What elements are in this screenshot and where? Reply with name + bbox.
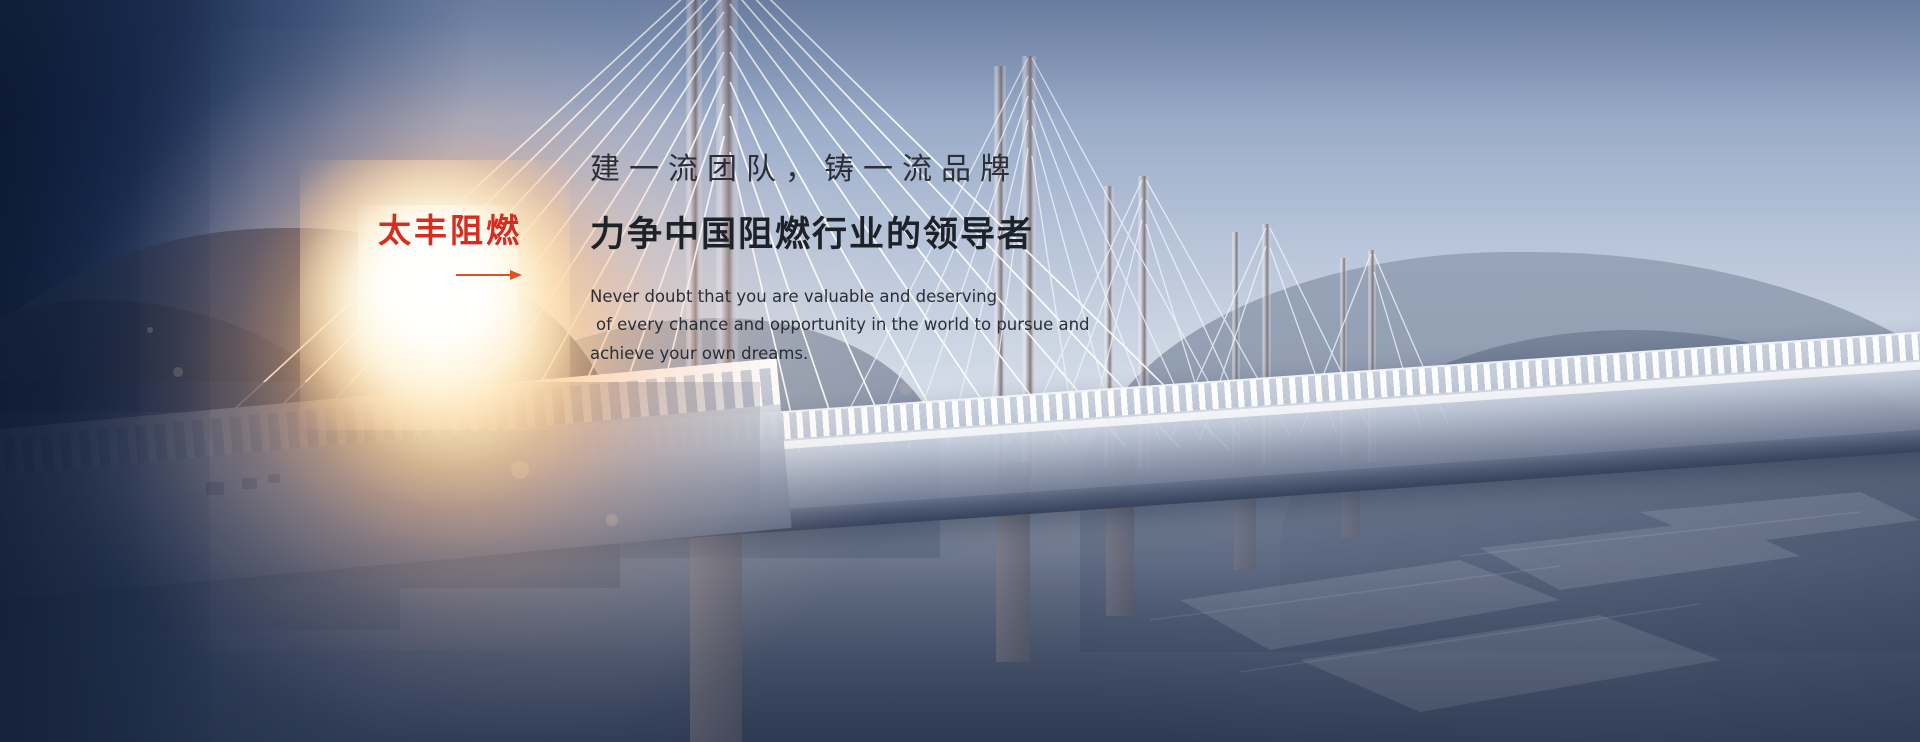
arrow-head <box>510 270 522 280</box>
subtext-line-2: of every chance and opportunity in the w… <box>590 311 1050 339</box>
banner-text-block: 建一流团队，铸一流品牌 力争中国阻燃行业的领导者 Never doubt tha… <box>590 152 1060 368</box>
headline-secondary: 力争中国阻燃行业的领导者 <box>590 214 1060 256</box>
subtext-line-1: Never doubt that you are valuable and de… <box>590 283 1050 311</box>
brand-logo-text: 太丰阻燃 <box>378 214 538 247</box>
arrow-shaft <box>456 274 512 276</box>
arrow-right-icon <box>456 269 522 281</box>
subtext-line-3: achieve your own dreams. <box>590 340 1050 368</box>
headline-primary: 建一流团队，铸一流品牌 <box>590 152 1060 188</box>
brand-logo[interactable]: 太丰阻燃 <box>378 214 538 281</box>
banner-subtext: Never doubt that you are valuable and de… <box>590 283 1050 368</box>
hero-banner: 太丰阻燃 建一流团队，铸一流品牌 力争中国阻燃行业的领导者 Never doub… <box>0 0 1920 742</box>
banner-content: 太丰阻燃 建一流团队，铸一流品牌 力争中国阻燃行业的领导者 Never doub… <box>0 0 1920 742</box>
